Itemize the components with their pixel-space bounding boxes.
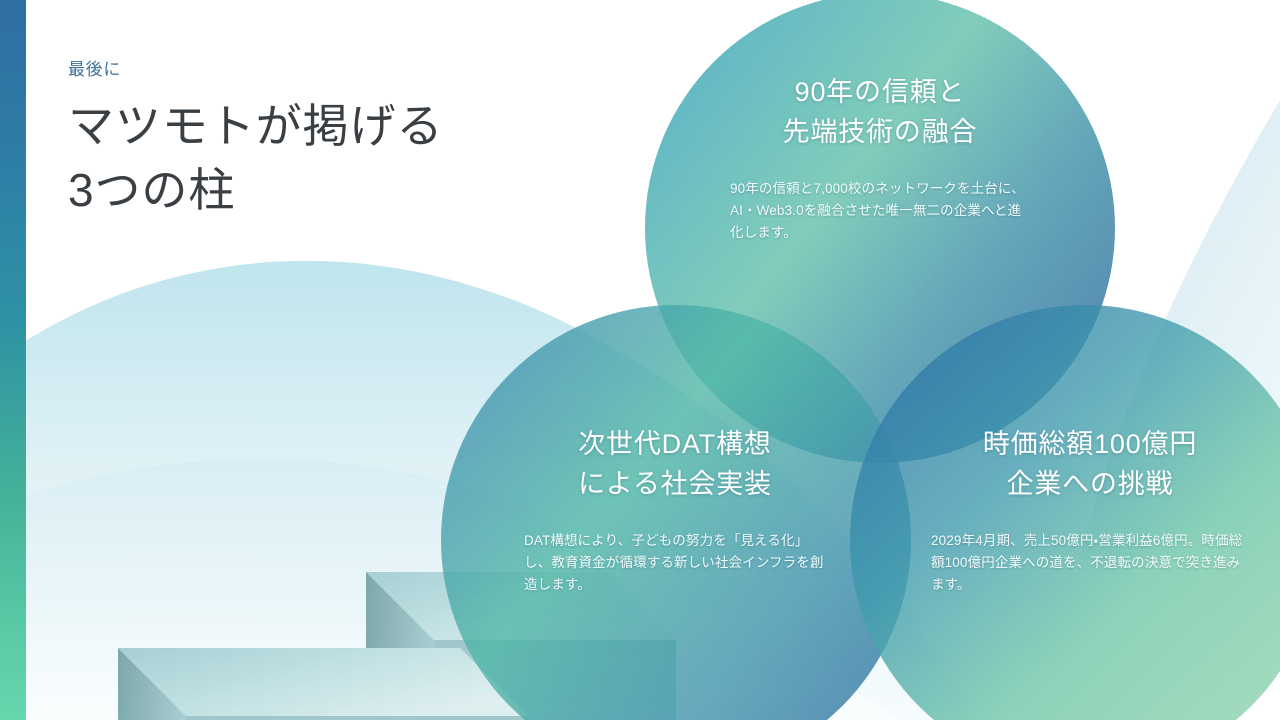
pillar-top-title: 90年の信頼と 先端技術の融合 xyxy=(650,72,1110,152)
left-accent-bar xyxy=(0,0,26,720)
pillar-top-body: 90年の信頼と7,000校のネットワークを土台に、AI・Web3.0を融合させた… xyxy=(730,178,1030,244)
pillar-bottom-right-title: 時価総額100億円 企業への挑戦 xyxy=(870,424,1280,504)
pillar-bottom-left-title: 次世代DAT構想 による社会実装 xyxy=(455,424,895,504)
page-title: マツモトが掲げる 3つの柱 xyxy=(68,94,588,222)
eyebrow-label: 最後に xyxy=(68,58,588,82)
pillar-bottom-left-body: DAT構想により、子どもの努力を「見える化」し、教育資金が循環する新しい社会イン… xyxy=(524,530,826,596)
pillar-bottom-right-body: 2029年4月期、売上50億円・営業利益6億円。時価総額100億円企業への道を、… xyxy=(931,530,1249,596)
pillar-bottom-left: 次世代DAT構想 による社会実装 DAT構想により、子どもの努力を「見える化」し… xyxy=(455,424,895,596)
headline-group: 最後に マツモトが掲げる 3つの柱 xyxy=(68,58,588,222)
slide-canvas: 最後に マツモトが掲げる 3つの柱 90年の信頼と 先端技術の融合 90年の信頼… xyxy=(0,0,1280,720)
pillar-bottom-right: 時価総額100億円 企業への挑戦 2029年4月期、売上50億円・営業利益6億円… xyxy=(870,424,1280,596)
pillar-top: 90年の信頼と 先端技術の融合 90年の信頼と7,000校のネットワークを土台に… xyxy=(650,72,1110,244)
